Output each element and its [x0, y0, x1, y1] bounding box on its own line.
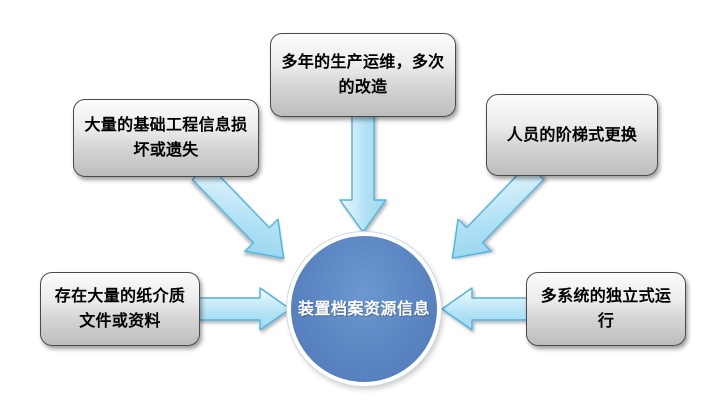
node-box-top[interactable]: 多年的生产运维，多次的改造	[270, 33, 456, 117]
node-box-right[interactable]: 多系统的独立式运行	[526, 272, 686, 346]
node-box-right-label: 多系统的独立式运行	[535, 284, 677, 334]
arrow-top-right-to-center	[420, 168, 540, 278]
node-box-left[interactable]: 存在大量的纸介质文件或资料	[40, 272, 200, 346]
node-box-top-left[interactable]: 大量的基础工程信息损坏或遗失	[73, 99, 259, 177]
arrow-top-to-center	[330, 112, 400, 242]
node-box-top-right-label: 人员的阶梯式更换	[495, 123, 649, 148]
arrow-right-to-center	[438, 288, 534, 334]
center-node-circle[interactable]: 装置档案资源信息	[287, 232, 441, 386]
arrow-top-left-to-center	[196, 168, 316, 278]
node-box-top-right[interactable]: 人员的阶梯式更换	[486, 94, 658, 176]
arrow-left-to-center	[198, 288, 294, 334]
diagram-canvas: 多年的生产运维，多次的改造 大量的基础工程信息损坏或遗失 人员的阶梯式更换 存在…	[0, 0, 723, 417]
node-box-top-label: 多年的生产运维，多次的改造	[279, 50, 447, 100]
node-box-left-label: 存在大量的纸介质文件或资料	[49, 284, 191, 334]
node-box-top-left-label: 大量的基础工程信息损坏或遗失	[82, 113, 250, 163]
center-node-label: 装置档案资源信息	[298, 294, 430, 324]
